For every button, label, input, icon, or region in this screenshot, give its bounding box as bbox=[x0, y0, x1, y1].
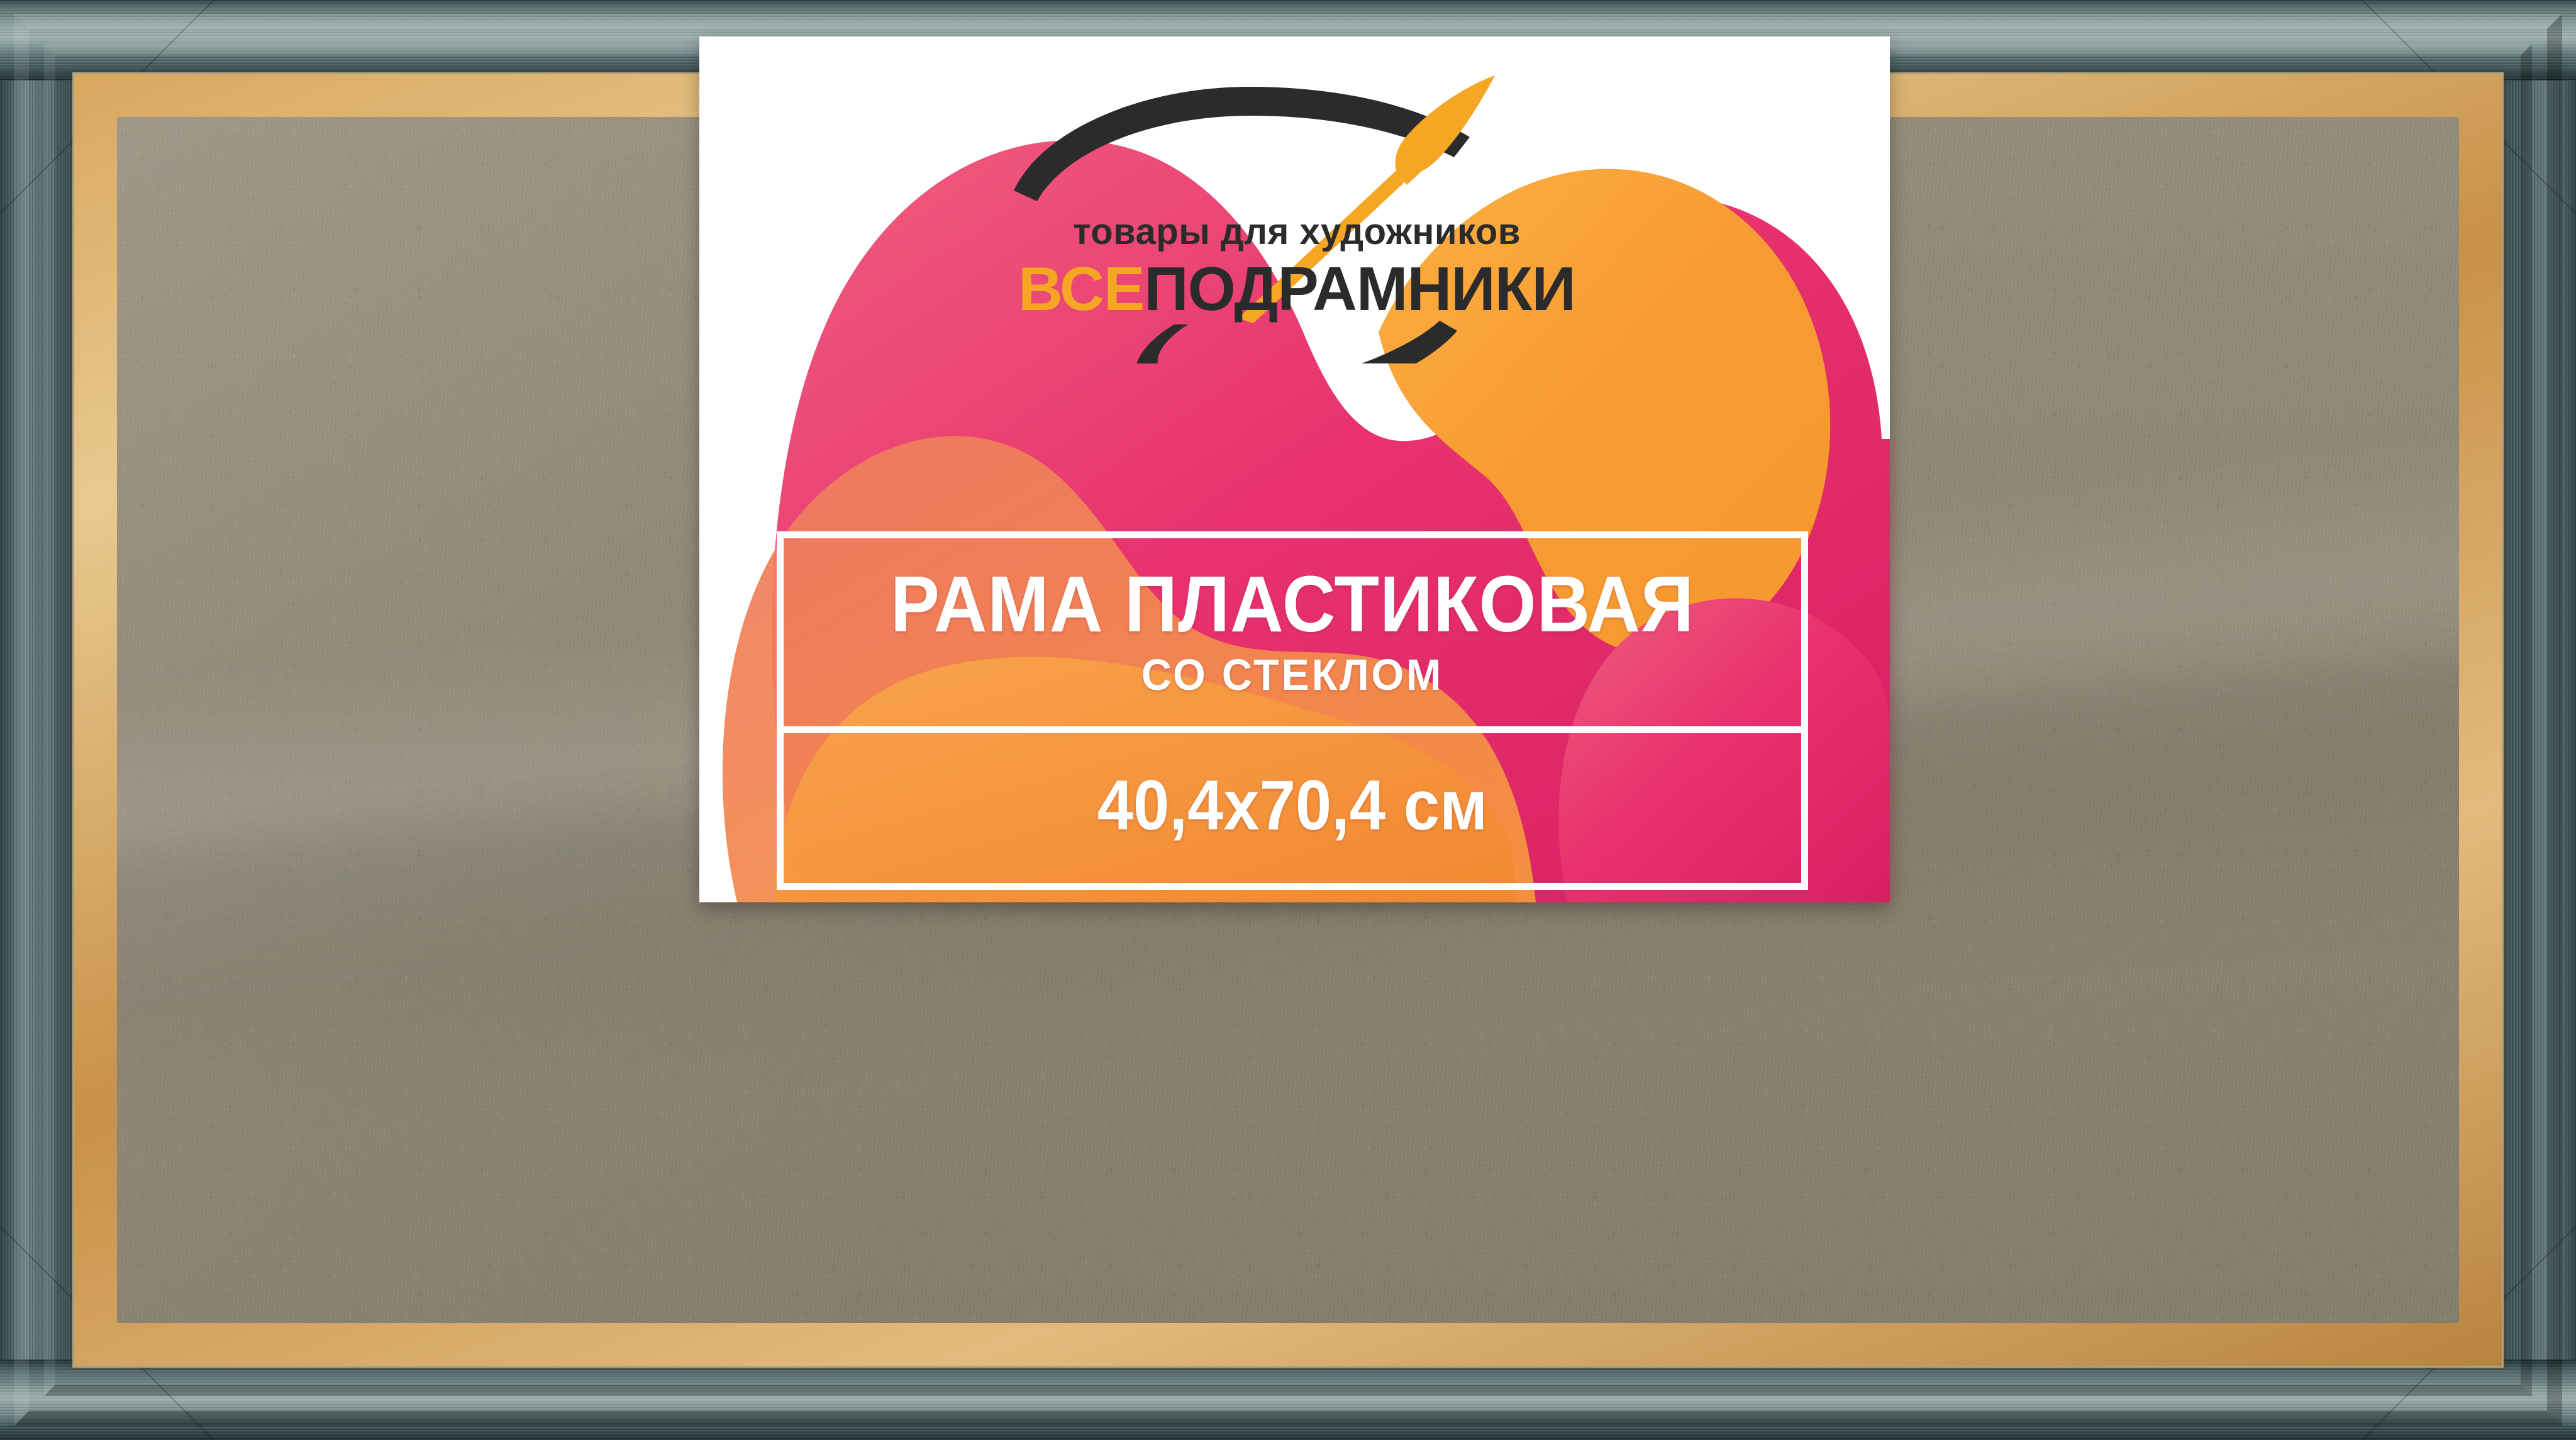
brand-logo: товары для художников ВСЕПОДРАМНИКИ bbox=[954, 62, 1640, 363]
logo-tagline: товары для художников bbox=[1073, 211, 1521, 252]
swoosh-bottom-icon bbox=[1135, 321, 1457, 363]
label-subtitle: СО СТЕКЛОМ bbox=[802, 650, 1782, 700]
product-label: товары для художников ВСЕПОДРАМНИКИ РАМА… bbox=[699, 36, 1890, 902]
label-size: 40,4x70,4 см bbox=[818, 765, 1767, 846]
svg-text:ВСЕПОДРАМНИКИ: ВСЕПОДРАМНИКИ bbox=[1018, 254, 1575, 323]
label-title: РАМА ПЛАСТИКОВАЯ bbox=[813, 558, 1772, 650]
product-photo: товары для художников ВСЕПОДРАМНИКИ РАМА… bbox=[0, 0, 2576, 1440]
logo-brand-1: ВСЕ bbox=[1018, 254, 1144, 323]
logo-brand-2: ПОДРАМНИКИ bbox=[1144, 254, 1575, 323]
